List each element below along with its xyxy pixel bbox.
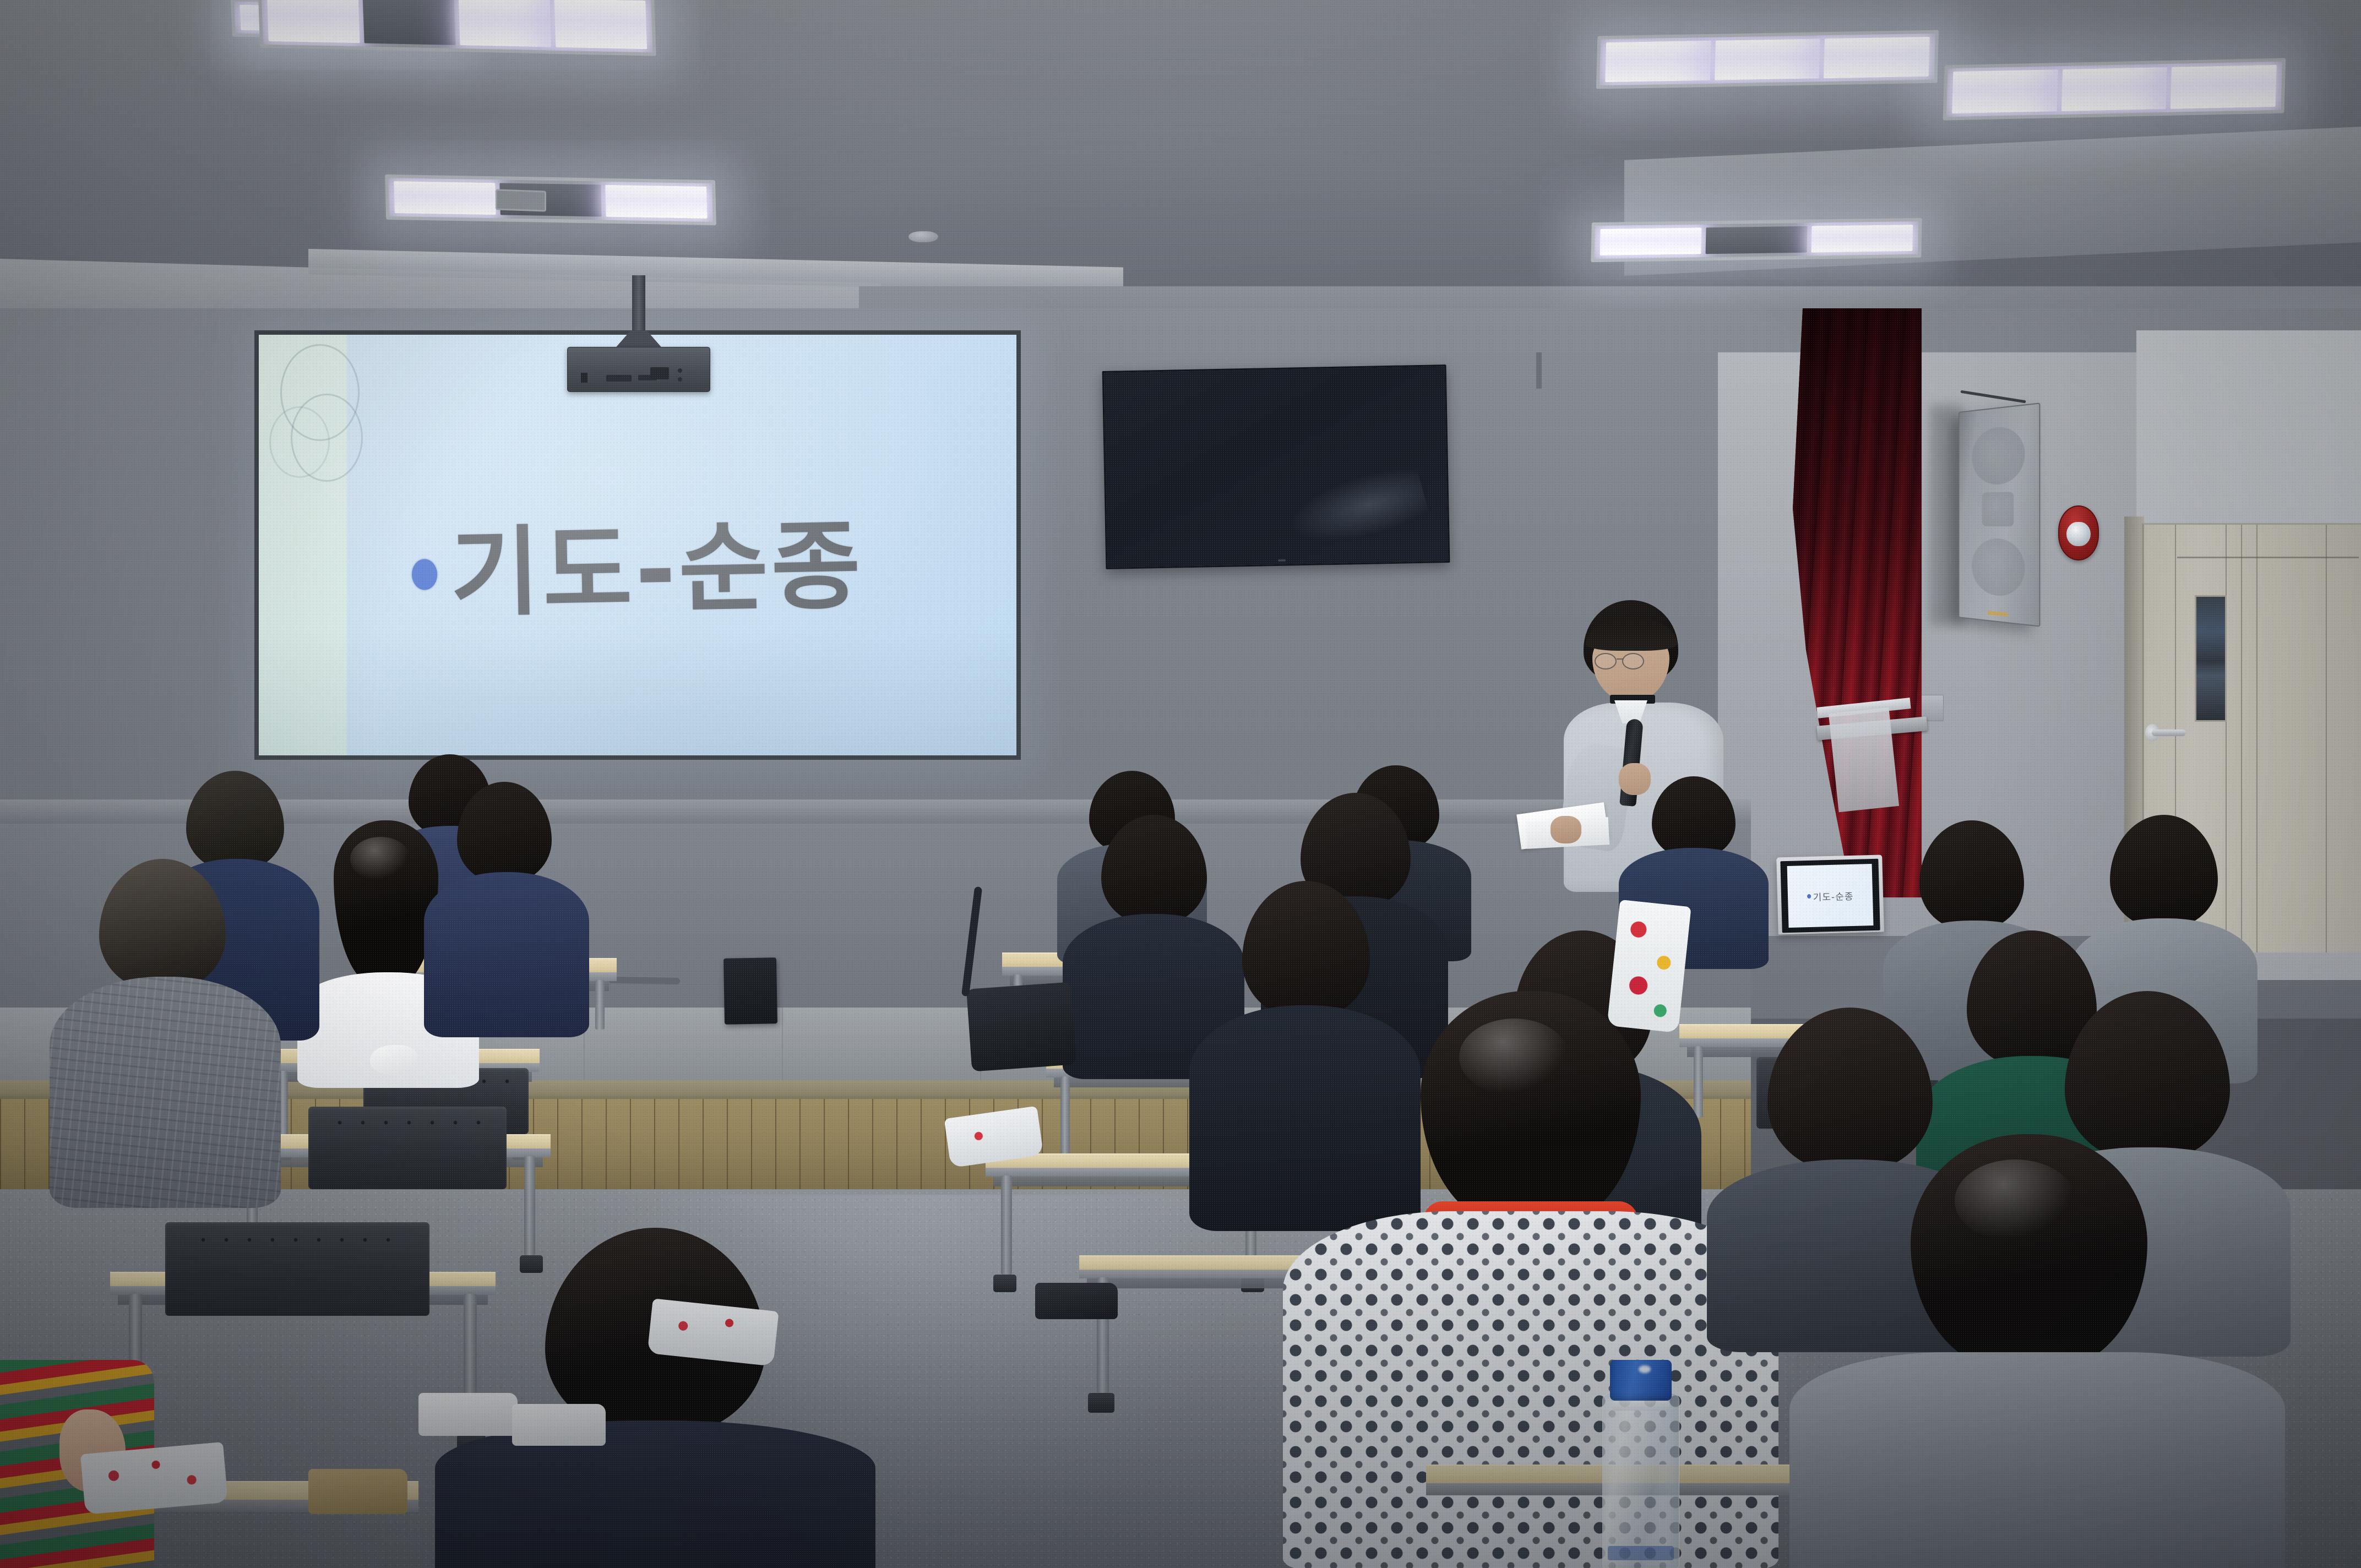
light-reflector-panel: [363, 0, 456, 45]
shoe: [418, 1393, 518, 1436]
audience-member: [1789, 1134, 2285, 1568]
speaker-driver-icon: [1972, 424, 2025, 485]
fluorescent-tube: [1811, 225, 1913, 253]
shoe: [308, 1469, 407, 1514]
laptop-screen: 기도-순종: [1780, 859, 1880, 933]
person-torso: [424, 872, 589, 1037]
speaker-driver-icon: [1972, 538, 2025, 598]
ceiling-vent: [496, 189, 546, 211]
tv-screen-reflection: [1282, 461, 1430, 556]
stage-floor-monitor: [723, 957, 777, 1025]
ceiling-projector: [567, 347, 710, 392]
desk-leg: [1060, 1076, 1070, 1159]
person-head: [457, 782, 552, 883]
hair-highlight: [1459, 1019, 1569, 1096]
fluorescent-tube: [1600, 227, 1702, 255]
person-torso: [1789, 1352, 2285, 1568]
fire-alarm-strobe-icon: [2058, 505, 2099, 560]
water-bottle[interactable]: [1602, 1360, 1679, 1568]
projector-indicator-icon: [678, 368, 682, 373]
person-head: [1919, 820, 2024, 930]
eyeglasses-icon: [1622, 653, 1644, 669]
chair-back-perforations: [192, 1237, 403, 1243]
person-head: [186, 771, 284, 871]
fluorescent-tube: [554, 0, 647, 49]
fluorescent-tube: [1715, 39, 1821, 80]
lectern: [1829, 707, 1899, 813]
fluorescent-tube: [267, 0, 360, 43]
fluorescent-tube: [605, 185, 707, 219]
slide-bullet-icon: [411, 559, 437, 590]
fluorescent-tube: [1605, 41, 1711, 82]
bottle-body: [1602, 1393, 1679, 1568]
door-rail-groove: [2177, 557, 2359, 558]
ceiling-light-fixture: [385, 175, 716, 226]
shoe: [1035, 1283, 1118, 1319]
eyeglasses-bridge: [1617, 658, 1623, 660]
stage-cable: [608, 977, 680, 984]
audience-member: [50, 859, 281, 1211]
wall-pa-speaker: [1959, 402, 2041, 627]
scene-root: 기도-순종: [0, 0, 2361, 1568]
desk-leg: [1001, 1175, 1012, 1275]
desk-caster: [993, 1275, 1016, 1292]
speaker-brand-badge: [1988, 611, 2008, 617]
person-head: [2110, 815, 2218, 928]
projector-port: [606, 375, 632, 382]
fluorescent-tube: [2061, 67, 2168, 111]
floral-bag: [80, 1442, 229, 1515]
fire-alarm-lens: [2066, 522, 2091, 546]
light-reflector-panel: [1706, 226, 1808, 254]
eyeglasses-icon: [1595, 653, 1617, 669]
audience-member: [424, 782, 589, 1041]
tv-power-led-icon: [1278, 559, 1286, 562]
projector-mount-pole: [632, 275, 645, 336]
chair[interactable]: [165, 1222, 429, 1316]
projected-slide: 기도-순종: [259, 335, 1016, 755]
bottle-cap-highlight: [1639, 1365, 1651, 1373]
hair-highlight: [1955, 1159, 2076, 1242]
fluorescent-tube: [1952, 69, 2058, 113]
tv-wall-bracket: [1536, 352, 1542, 389]
projection-screen: 기도-순종: [254, 330, 1021, 760]
slide-heading: 기도-순종: [449, 520, 864, 620]
desk-leg: [595, 980, 605, 1030]
person-head: [99, 859, 226, 991]
presenter-hand: [1551, 816, 1581, 843]
projector-port: [638, 375, 657, 380]
smoke-detector-icon: [909, 231, 938, 242]
fluorescent-tube: [458, 0, 551, 47]
slide-content: 기도-순종: [259, 335, 1016, 755]
chair[interactable]: [308, 1107, 507, 1189]
fluorescent-tube: [394, 181, 496, 215]
person-torso: [435, 1420, 875, 1568]
laptop-slide-preview: 기도-순종: [1787, 864, 1874, 928]
wall-mounted-tv: [1102, 364, 1450, 569]
chair-back-perforations: [328, 1120, 487, 1125]
ceiling-light-fixture: [1591, 218, 1922, 262]
person-torso: [50, 977, 281, 1208]
desk-caster: [1088, 1393, 1114, 1413]
hair-highlight: [350, 837, 411, 881]
door-lever-handle[interactable]: [2152, 729, 2186, 736]
door-panel-groove: [2326, 525, 2327, 952]
laptop-slide-text: 기도-순종: [1813, 888, 1853, 903]
shoe: [512, 1404, 606, 1446]
ceiling-light-fixture: [1943, 58, 2286, 120]
chair-back: [165, 1222, 429, 1316]
bottle-neck-ring: [1612, 1401, 1669, 1411]
shoulder-bag: [966, 982, 1076, 1072]
operator-laptop[interactable]: 기도-순종: [1776, 855, 1884, 935]
chair-back: [308, 1107, 507, 1189]
slide-bullet-line: 기도-순종: [411, 520, 864, 620]
door-vision-panel: [2195, 595, 2227, 722]
fluorescent-tube: [2170, 65, 2277, 109]
bottle-label: [1608, 1546, 1674, 1560]
fluorescent-tube: [1824, 37, 1930, 78]
speaker-port-icon: [1982, 492, 2014, 526]
laptop-slide-bullet-icon: [1807, 894, 1811, 899]
projector-indicator-icon: [678, 377, 682, 382]
ceiling-light-fixture: [1596, 30, 1939, 89]
ceiling-light-fixture: [258, 0, 656, 56]
person-head: [1652, 776, 1736, 859]
